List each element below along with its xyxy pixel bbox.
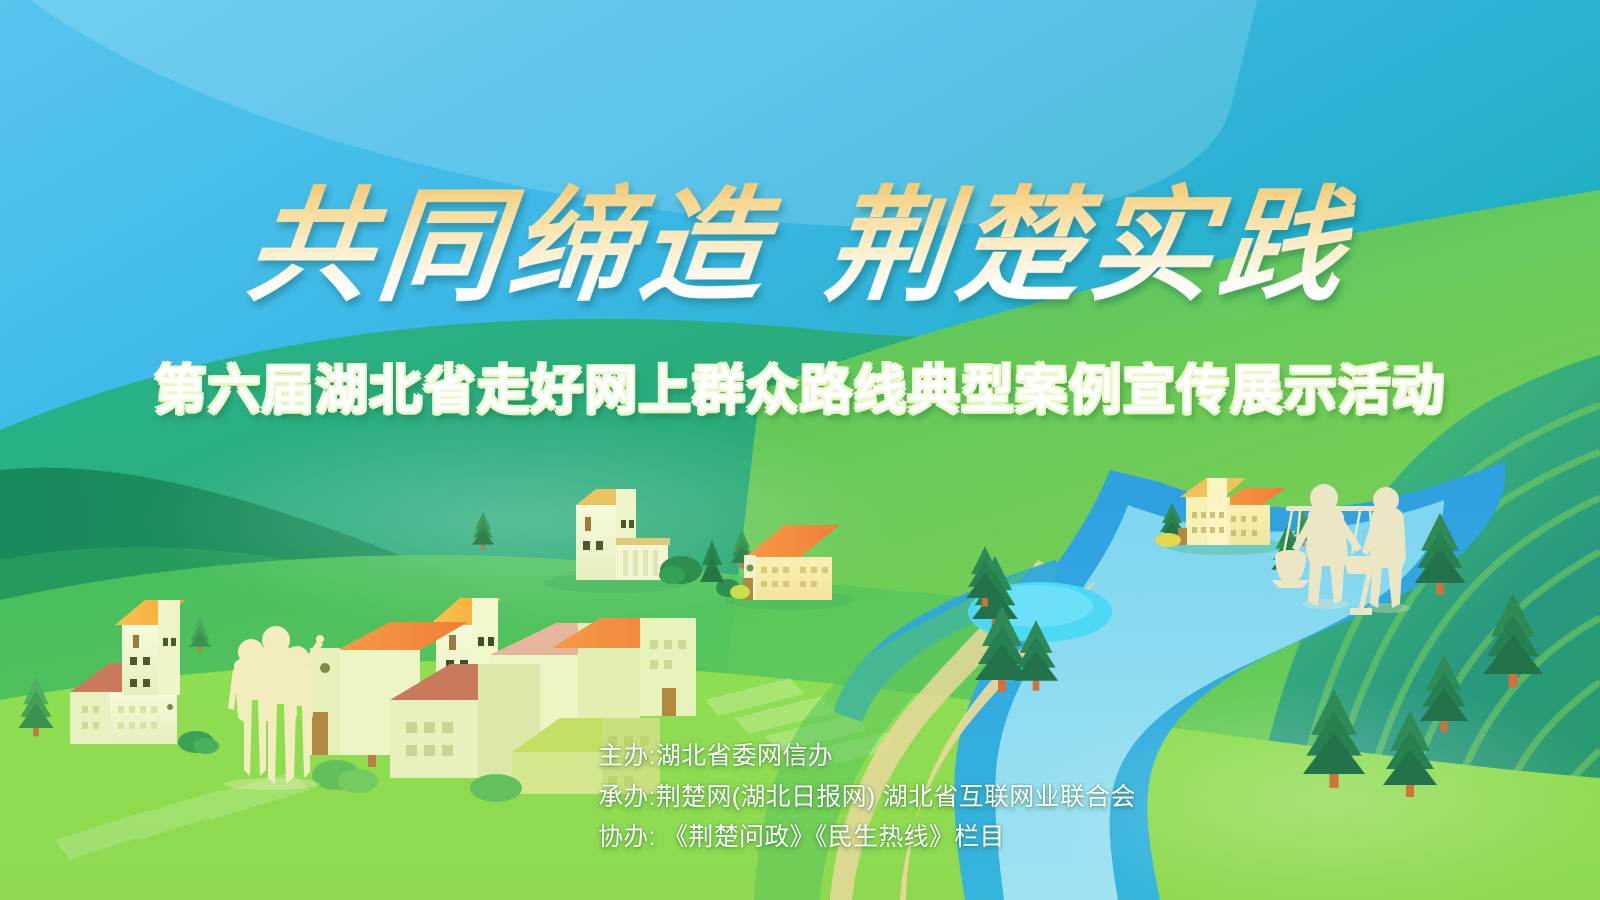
- main-title-container: 共同缔造荆楚实践: [0, 140, 1600, 330]
- credit-line-organizer: 承办:荆楚网(湖北日报网) 湖北省互联网业联合会: [598, 777, 1136, 818]
- subtitle-container: 第六届湖北省走好网上群众路线典型案例宣传展示活动: [0, 350, 1600, 420]
- title-part-two: 荆楚实践: [819, 179, 1357, 316]
- page-subtitle: 第六届湖北省走好网上群众路线典型案例宣传展示活动: [154, 348, 1446, 423]
- poster-banner: 共同缔造荆楚实践 第六届湖北省走好网上群众路线典型案例宣传展示活动 主办:湖北省…: [0, 0, 1600, 900]
- credits-block: 主办:湖北省委网信办 承办:荆楚网(湖北日报网) 湖北省互联网业联合会 协办: …: [598, 736, 1136, 858]
- page-title: 共同缔造荆楚实践: [239, 145, 1360, 325]
- title-part-one: 共同缔造: [240, 179, 778, 316]
- credit-line-coorganizer: 协办: 《荆楚问政》《民生热线》栏目: [598, 817, 1136, 858]
- credit-line-host: 主办:湖北省委网信办: [598, 736, 1136, 777]
